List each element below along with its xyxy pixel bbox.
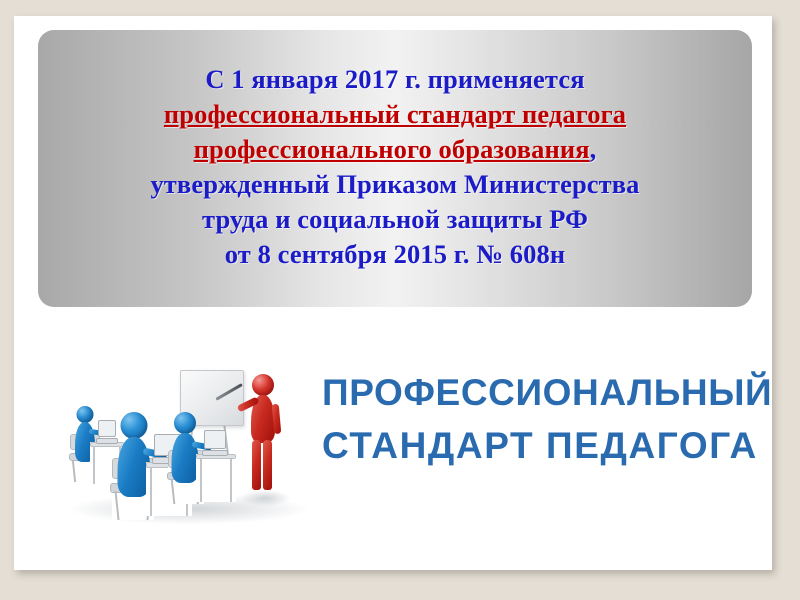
title-line-4: утвержденный Приказом Министерства: [150, 167, 639, 202]
title-line-3-comma: ,: [590, 134, 597, 164]
illustration-image: ПРОФЕССИОНАЛЬНЫЙ СТАНДАРТ ПЕДАГОГА: [50, 352, 740, 528]
illustration-bitmap: ПРОФЕССИОНАЛЬНЫЙ СТАНДАРТ ПЕДАГОГА: [50, 352, 740, 528]
classroom-scene: [64, 358, 324, 526]
presenter-leg-right: [263, 440, 272, 490]
student-head: [77, 406, 94, 423]
laptop-3: [202, 430, 228, 456]
title-line-6: от 8 сентября 2015 г. № 608н: [225, 237, 565, 272]
title-line-2: профессиональный стандарт педагога: [164, 97, 626, 132]
student-head: [174, 412, 196, 434]
title-line-3-highlight: профессионального образования: [194, 134, 590, 164]
presenter-leg-left: [252, 440, 261, 490]
wordmark-line-2: СТАНДАРТ ПЕДАГОГА: [322, 427, 730, 464]
title-plaque: С 1 января 2017 г. применяется профессио…: [38, 30, 752, 307]
title-line-5: труда и социальной защиты РФ: [202, 202, 588, 237]
student-head: [121, 412, 148, 439]
desk-3: [196, 454, 236, 502]
laptop-screen: [204, 430, 226, 449]
laptop-base: [202, 450, 228, 456]
desk-leg: [200, 459, 202, 502]
desk-leg: [93, 446, 95, 484]
title-line-1: С 1 января 2017 г. применяется: [205, 62, 584, 97]
desk-leg: [150, 467, 152, 516]
presenter-shadow: [240, 490, 290, 506]
illustration-wordmark: ПРОФЕССИОНАЛЬНЫЙ СТАНДАРТ ПЕДАГОГА: [322, 374, 730, 464]
title-line-3: профессионального образования,: [194, 132, 597, 167]
presenter-head: [252, 374, 274, 396]
slide-canvas: С 1 января 2017 г. применяется профессио…: [14, 16, 772, 570]
desk-leg: [230, 459, 232, 502]
presenter-figure-red: [246, 374, 280, 498]
wordmark-line-1: ПРОФЕССИОНАЛЬНЫЙ: [322, 374, 730, 411]
